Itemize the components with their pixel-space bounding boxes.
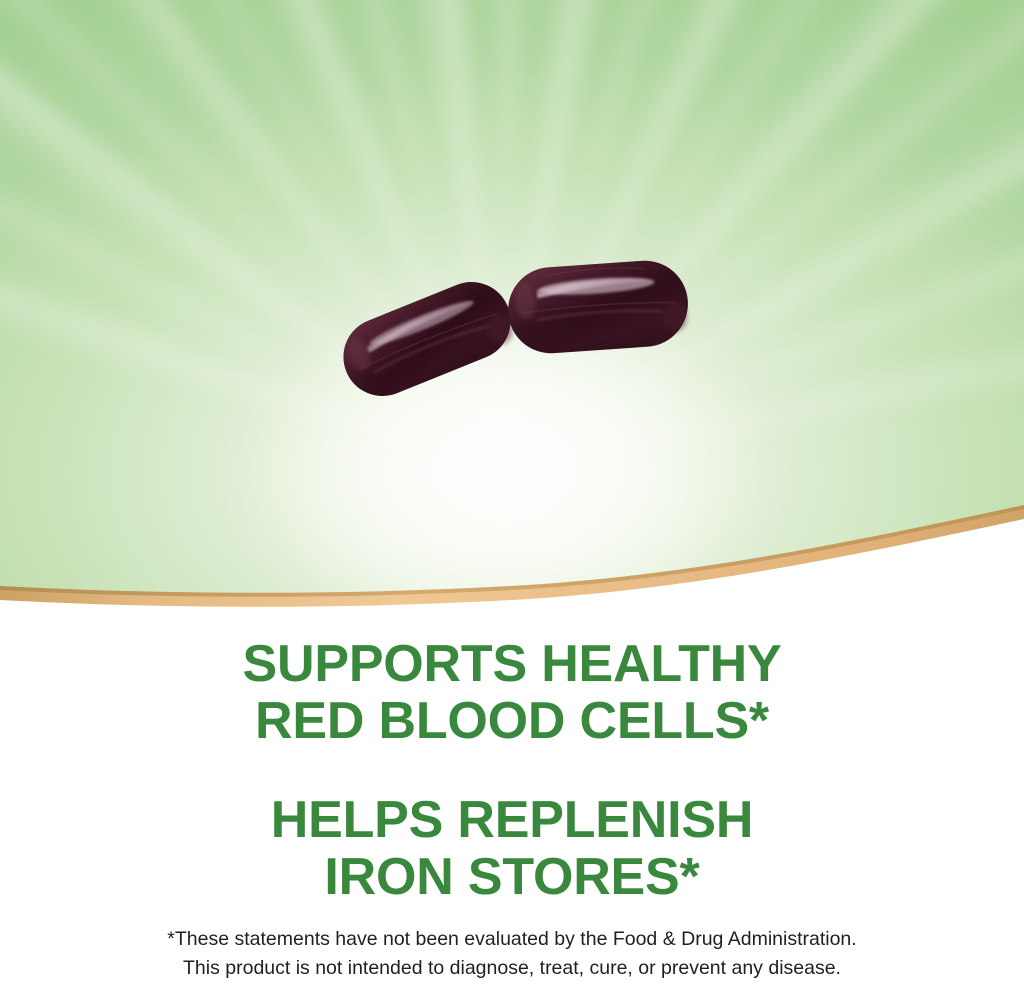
softgel-capsule-right <box>498 250 698 365</box>
softgel-capsule-left <box>332 272 522 407</box>
headline-block-red-blood-cells: SUPPORTS HEALTHY RED BLOOD CELLS* <box>0 636 1024 750</box>
disclaimer-line-1: *These statements have not been evaluate… <box>0 925 1024 954</box>
fda-disclaimer: *These statements have not been evaluate… <box>0 925 1024 983</box>
headline-line-3: HELPS REPLENISH <box>0 792 1024 849</box>
headline-line-1: SUPPORTS HEALTHY <box>0 636 1024 693</box>
disclaimer-line-2: This product is not intended to diagnose… <box>0 954 1024 983</box>
hero-green-panel <box>0 0 1024 620</box>
headline-line-4: IRON STORES* <box>0 849 1024 906</box>
headline-block-iron-stores: HELPS REPLENISH IRON STORES* <box>0 792 1024 906</box>
headline-group: SUPPORTS HEALTHY RED BLOOD CELLS* HELPS … <box>0 636 1024 906</box>
headline-line-2: RED BLOOD CELLS* <box>0 693 1024 750</box>
product-marketing-panel: SUPPORTS HEALTHY RED BLOOD CELLS* HELPS … <box>0 0 1024 991</box>
